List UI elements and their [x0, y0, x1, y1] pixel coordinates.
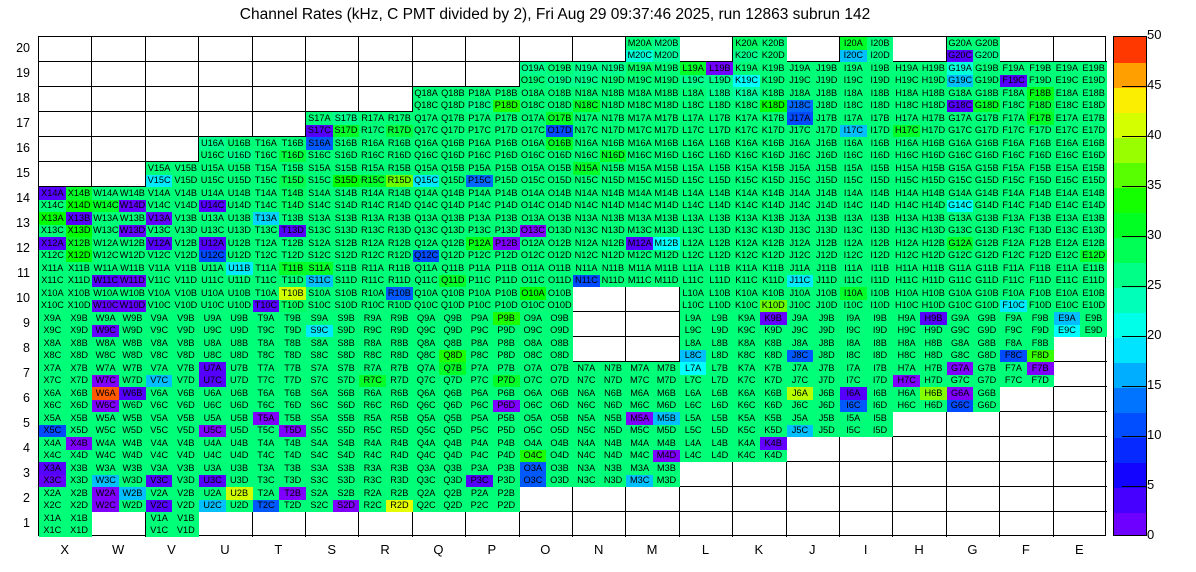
- heatmap-subcell[interactable]: H15B: [920, 162, 947, 175]
- heatmap-subcell[interactable]: F8D: [1027, 350, 1054, 363]
- heatmap-subcell[interactable]: R13D: [386, 225, 413, 238]
- heatmap-subcell[interactable]: R3A: [359, 462, 386, 475]
- heatmap-subcell[interactable]: U16A: [199, 137, 226, 150]
- heatmap-subcell[interactable]: T12A: [253, 237, 280, 250]
- heatmap-subcell[interactable]: R16C: [359, 150, 386, 163]
- heatmap-cell[interactable]: W8AW8BW8CW8D: [92, 337, 145, 362]
- heatmap-subcell[interactable]: V13B: [172, 212, 199, 225]
- heatmap-subcell[interactable]: W13D: [119, 225, 146, 238]
- heatmap-cell[interactable]: O17AO17BO17CO17D: [520, 112, 573, 137]
- heatmap-subcell[interactable]: K19D: [760, 75, 787, 88]
- heatmap-subcell[interactable]: V10B: [172, 287, 199, 300]
- heatmap-subcell[interactable]: F12A: [1000, 237, 1027, 250]
- heatmap-subcell[interactable]: U15C: [199, 175, 226, 188]
- heatmap-subcell[interactable]: G13D: [973, 225, 1000, 238]
- heatmap-subcell[interactable]: H11A: [893, 262, 920, 275]
- heatmap-subcell[interactable]: V7B: [172, 362, 199, 375]
- heatmap-cell[interactable]: X10AX10BX10CX10D: [39, 287, 92, 312]
- heatmap-subcell[interactable]: F17A: [1000, 112, 1027, 125]
- heatmap-subcell[interactable]: P14A: [466, 187, 493, 200]
- heatmap-subcell[interactable]: V11B: [172, 262, 199, 275]
- heatmap-subcell[interactable]: W8D: [119, 350, 146, 363]
- heatmap-subcell[interactable]: V1C: [146, 525, 173, 538]
- heatmap-subcell[interactable]: J10B: [813, 287, 840, 300]
- heatmap-subcell[interactable]: V2D: [172, 500, 199, 513]
- heatmap-subcell[interactable]: S4C: [306, 450, 333, 463]
- heatmap-cell[interactable]: L9AL9BL9CL9D: [680, 312, 733, 337]
- heatmap-subcell[interactable]: J16B: [813, 137, 840, 150]
- heatmap-subcell[interactable]: E16C: [1054, 150, 1081, 163]
- heatmap-subcell[interactable]: P15B: [493, 162, 520, 175]
- heatmap-subcell[interactable]: O16B: [546, 137, 573, 150]
- heatmap-subcell[interactable]: E11A: [1054, 262, 1081, 275]
- heatmap-subcell[interactable]: V8B: [172, 337, 199, 350]
- heatmap-subcell[interactable]: Q13B: [439, 212, 466, 225]
- heatmap-subcell[interactable]: H9D: [920, 325, 947, 338]
- heatmap-subcell[interactable]: S5B: [333, 412, 360, 425]
- heatmap-cell[interactable]: F8AF8BF8CF8D: [1000, 337, 1053, 362]
- heatmap-subcell[interactable]: K15B: [760, 162, 787, 175]
- heatmap-cell[interactable]: E19AE19BE19CE19D: [1054, 62, 1107, 87]
- heatmap-subcell[interactable]: V4D: [172, 450, 199, 463]
- heatmap-subcell[interactable]: U10A: [199, 287, 226, 300]
- heatmap-subcell[interactable]: S6B: [333, 387, 360, 400]
- heatmap-subcell[interactable]: R3D: [386, 475, 413, 488]
- heatmap-subcell[interactable]: Q12A: [413, 237, 440, 250]
- heatmap-subcell[interactable]: T2B: [279, 487, 306, 500]
- heatmap-subcell[interactable]: J9C: [787, 325, 814, 338]
- heatmap-cell[interactable]: J7AJ7BJ7CJ7D: [787, 362, 840, 387]
- heatmap-subcell[interactable]: K14B: [760, 187, 787, 200]
- heatmap-subcell[interactable]: K18B: [760, 87, 787, 100]
- heatmap-subcell[interactable]: J15D: [813, 175, 840, 188]
- heatmap-subcell[interactable]: H16B: [920, 137, 947, 150]
- heatmap-cell[interactable]: W12AW12BW12CW12D: [92, 237, 145, 262]
- heatmap-subcell[interactable]: R3B: [386, 462, 413, 475]
- heatmap-cell[interactable]: O10AO10BO10CO10D: [520, 287, 573, 312]
- heatmap-cell[interactable]: [840, 462, 893, 487]
- heatmap-cell[interactable]: M6AM6BM6CM6D: [626, 387, 679, 412]
- heatmap-subcell[interactable]: K19B: [760, 62, 787, 75]
- heatmap-subcell[interactable]: R9B: [386, 312, 413, 325]
- heatmap-subcell[interactable]: H11B: [920, 262, 947, 275]
- heatmap-cell[interactable]: H19AH19BH19CH19D: [893, 62, 946, 87]
- heatmap-subcell[interactable]: G11B: [973, 262, 1000, 275]
- heatmap-cell[interactable]: Q5AQ5BQ5CQ5D: [413, 412, 466, 437]
- heatmap-cell[interactable]: J10AJ10BJ10CJ10D: [787, 287, 840, 312]
- heatmap-cell[interactable]: L15AL15BL15CL15D: [680, 162, 733, 187]
- heatmap-subcell[interactable]: L9B: [706, 312, 733, 325]
- heatmap-cell[interactable]: T5AT5BT5CT5D: [253, 412, 306, 437]
- heatmap-cell[interactable]: L13AL13BL13CL13D: [680, 212, 733, 237]
- heatmap-subcell[interactable]: Q5B: [439, 412, 466, 425]
- heatmap-subcell[interactable]: T4A: [253, 437, 280, 450]
- heatmap-cell[interactable]: R7AR7BR7CR7D: [359, 362, 412, 387]
- heatmap-cell[interactable]: V8AV8BV8CV8D: [146, 337, 199, 362]
- heatmap-subcell[interactable]: X3A: [39, 462, 66, 475]
- heatmap-cell[interactable]: O19AO19BO19CO19D: [520, 62, 573, 87]
- heatmap-subcell[interactable]: N7C: [573, 375, 600, 388]
- heatmap-subcell[interactable]: X4D: [66, 450, 93, 463]
- heatmap-subcell[interactable]: M7B: [653, 362, 680, 375]
- heatmap-subcell[interactable]: X5B: [66, 412, 93, 425]
- heatmap-cell[interactable]: E13AE13BE13CE13D: [1054, 212, 1107, 237]
- heatmap-cell[interactable]: I10AI10BI10CI10D: [840, 287, 893, 312]
- heatmap-subcell[interactable]: W6D: [119, 400, 146, 413]
- heatmap-subcell[interactable]: I20C: [840, 50, 867, 63]
- heatmap-cell[interactable]: [1054, 362, 1107, 387]
- heatmap-cell[interactable]: E12AE12BE12CE12D: [1054, 237, 1107, 262]
- heatmap-subcell[interactable]: R12A: [359, 237, 386, 250]
- heatmap-subcell[interactable]: M17A: [626, 112, 653, 125]
- heatmap-subcell[interactable]: Q17D: [439, 125, 466, 138]
- heatmap-subcell[interactable]: M4D: [653, 450, 680, 463]
- heatmap-subcell[interactable]: I17A: [840, 112, 867, 125]
- heatmap-cell[interactable]: [947, 437, 1000, 462]
- heatmap-cell[interactable]: G13AG13BG13CG13D: [947, 212, 1000, 237]
- heatmap-cell[interactable]: [626, 287, 679, 312]
- heatmap-cell[interactable]: [466, 512, 519, 537]
- heatmap-subcell[interactable]: H18C: [893, 100, 920, 113]
- heatmap-cell[interactable]: U7AU7BU7CU7D: [199, 362, 252, 387]
- heatmap-subcell[interactable]: S15A: [306, 162, 333, 175]
- heatmap-subcell[interactable]: E13C: [1054, 225, 1081, 238]
- heatmap-subcell[interactable]: F17C: [1000, 125, 1027, 138]
- heatmap-subcell[interactable]: I17D: [867, 125, 894, 138]
- heatmap-subcell[interactable]: K17B: [760, 112, 787, 125]
- heatmap-subcell[interactable]: Q16B: [439, 137, 466, 150]
- heatmap-subcell[interactable]: R15D: [386, 175, 413, 188]
- heatmap-subcell[interactable]: P11C: [466, 275, 493, 288]
- heatmap-subcell[interactable]: X14B: [66, 187, 93, 200]
- heatmap-subcell[interactable]: T11C: [253, 275, 280, 288]
- heatmap-subcell[interactable]: O14B: [546, 187, 573, 200]
- heatmap-cell[interactable]: X13AX13BX13CX13D: [39, 212, 92, 237]
- heatmap-cell[interactable]: [947, 412, 1000, 437]
- heatmap-subcell[interactable]: J17B: [813, 112, 840, 125]
- heatmap-subcell[interactable]: N18A: [573, 87, 600, 100]
- heatmap-cell[interactable]: S12AS12BS12CS12D: [306, 237, 359, 262]
- heatmap-cell[interactable]: [1054, 487, 1107, 512]
- heatmap-subcell[interactable]: F9D: [1027, 325, 1054, 338]
- heatmap-cell[interactable]: [92, 137, 145, 162]
- heatmap-subcell[interactable]: L18A: [680, 87, 707, 100]
- heatmap-subcell[interactable]: O10C: [520, 300, 547, 313]
- heatmap-subcell[interactable]: N5D: [600, 425, 627, 438]
- heatmap-subcell[interactable]: I8B: [867, 337, 894, 350]
- heatmap-subcell[interactable]: N12A: [573, 237, 600, 250]
- heatmap-subcell[interactable]: U2B: [226, 487, 253, 500]
- heatmap-subcell[interactable]: W4C: [92, 450, 119, 463]
- heatmap-subcell[interactable]: T11A: [253, 262, 280, 275]
- heatmap-subcell[interactable]: Q18B: [439, 87, 466, 100]
- heatmap-subcell[interactable]: V13D: [172, 225, 199, 238]
- heatmap-subcell[interactable]: V2A: [146, 487, 173, 500]
- heatmap-cell[interactable]: O7AO7BO7CO7D: [520, 362, 573, 387]
- heatmap-subcell[interactable]: O14C: [520, 200, 547, 213]
- heatmap-subcell[interactable]: R16D: [386, 150, 413, 163]
- heatmap-subcell[interactable]: O15D: [546, 175, 573, 188]
- heatmap-subcell[interactable]: N18D: [600, 100, 627, 113]
- heatmap-subcell[interactable]: G7C: [947, 375, 974, 388]
- heatmap-subcell[interactable]: U3A: [199, 462, 226, 475]
- heatmap-subcell[interactable]: V3D: [172, 475, 199, 488]
- heatmap-subcell[interactable]: P12D: [493, 250, 520, 263]
- heatmap-subcell[interactable]: L19B: [706, 62, 733, 75]
- heatmap-subcell[interactable]: H8C: [893, 350, 920, 363]
- heatmap-subcell[interactable]: N15D: [600, 175, 627, 188]
- heatmap-subcell[interactable]: X11A: [39, 262, 66, 275]
- heatmap-cell[interactable]: [1054, 37, 1107, 62]
- heatmap-subcell[interactable]: I6C: [840, 400, 867, 413]
- heatmap-subcell[interactable]: U5C: [199, 425, 226, 438]
- heatmap-subcell[interactable]: Q7D: [439, 375, 466, 388]
- heatmap-cell[interactable]: U12AU12BU12CU12D: [199, 237, 252, 262]
- heatmap-cell[interactable]: F11AF11BF11CF11D: [1000, 262, 1053, 287]
- heatmap-subcell[interactable]: P4B: [493, 437, 520, 450]
- heatmap-subcell[interactable]: M12D: [653, 250, 680, 263]
- heatmap-subcell[interactable]: G14C: [947, 200, 974, 213]
- heatmap-subcell[interactable]: V5B: [172, 412, 199, 425]
- heatmap-subcell[interactable]: N5A: [573, 412, 600, 425]
- heatmap-subcell[interactable]: T10D: [279, 300, 306, 313]
- heatmap-cell[interactable]: [39, 162, 92, 187]
- heatmap-cell[interactable]: W3AW3BW3CW3D: [92, 462, 145, 487]
- heatmap-cell[interactable]: T4AT4BT4CT4D: [253, 437, 306, 462]
- heatmap-cell[interactable]: V11AV11BV11CV11D: [146, 262, 199, 287]
- heatmap-subcell[interactable]: M3B: [653, 462, 680, 475]
- heatmap-subcell[interactable]: O6A: [520, 387, 547, 400]
- heatmap-cell[interactable]: [573, 487, 626, 512]
- heatmap-subcell[interactable]: U8D: [226, 350, 253, 363]
- heatmap-subcell[interactable]: O19C: [520, 75, 547, 88]
- heatmap-subcell[interactable]: H13C: [893, 225, 920, 238]
- heatmap-subcell[interactable]: Q15B: [439, 162, 466, 175]
- heatmap-cell[interactable]: [199, 112, 252, 137]
- heatmap-subcell[interactable]: S6C: [306, 400, 333, 413]
- heatmap-cell[interactable]: P14AP14BP14CP14D: [466, 187, 519, 212]
- heatmap-subcell[interactable]: R5D: [386, 425, 413, 438]
- heatmap-cell[interactable]: [573, 337, 626, 362]
- heatmap-subcell[interactable]: W3D: [119, 475, 146, 488]
- heatmap-cell[interactable]: H14AH14BH14CH14D: [893, 187, 946, 212]
- heatmap-cell[interactable]: P15AP15BP15CP15D: [466, 162, 519, 187]
- heatmap-subcell[interactable]: N7A: [573, 362, 600, 375]
- heatmap-subcell[interactable]: R8A: [359, 337, 386, 350]
- heatmap-cell[interactable]: I12AI12BI12CI12D: [840, 237, 893, 262]
- heatmap-subcell[interactable]: L14B: [706, 187, 733, 200]
- heatmap-cell[interactable]: H7AH7BH7CH7D: [893, 362, 946, 387]
- heatmap-subcell[interactable]: N5C: [573, 425, 600, 438]
- heatmap-cell[interactable]: [787, 462, 840, 487]
- heatmap-subcell[interactable]: E19C: [1054, 75, 1081, 88]
- heatmap-cell[interactable]: O11AO11BO11CO11D: [520, 262, 573, 287]
- heatmap-cell[interactable]: S5AS5BS5CS5D: [306, 412, 359, 437]
- heatmap-subcell[interactable]: E19A: [1054, 62, 1081, 75]
- heatmap-subcell[interactable]: F15A: [1000, 162, 1027, 175]
- heatmap-subcell[interactable]: O8B: [546, 337, 573, 350]
- heatmap-subcell[interactable]: I12B: [867, 237, 894, 250]
- heatmap-subcell[interactable]: X1A: [39, 512, 66, 525]
- heatmap-subcell[interactable]: I5C: [840, 425, 867, 438]
- heatmap-cell[interactable]: P4AP4BP4CP4D: [466, 437, 519, 462]
- heatmap-subcell[interactable]: P9D: [493, 325, 520, 338]
- heatmap-subcell[interactable]: Q8D: [439, 350, 466, 363]
- heatmap-subcell[interactable]: K11C: [733, 275, 760, 288]
- heatmap-subcell[interactable]: T6B: [279, 387, 306, 400]
- heatmap-cell[interactable]: I9AI9BI9CI9D: [840, 312, 893, 337]
- heatmap-subcell[interactable]: W3B: [119, 462, 146, 475]
- heatmap-subcell[interactable]: F11C: [1000, 275, 1027, 288]
- heatmap-cell[interactable]: W13AW13BW13CW13D: [92, 212, 145, 237]
- heatmap-subcell[interactable]: U13D: [226, 225, 253, 238]
- heatmap-subcell[interactable]: N13B: [600, 212, 627, 225]
- heatmap-subcell[interactable]: T5A: [253, 412, 280, 425]
- heatmap-subcell[interactable]: Q17A: [413, 112, 440, 125]
- heatmap-subcell[interactable]: F16A: [1000, 137, 1027, 150]
- heatmap-subcell[interactable]: H7A: [893, 362, 920, 375]
- heatmap-subcell[interactable]: O5C: [520, 425, 547, 438]
- heatmap-subcell[interactable]: O5D: [546, 425, 573, 438]
- heatmap-cell[interactable]: R10AR10BR10CR10D: [359, 287, 412, 312]
- heatmap-subcell[interactable]: S12C: [306, 250, 333, 263]
- heatmap-subcell[interactable]: F16D: [1027, 150, 1054, 163]
- heatmap-subcell[interactable]: U7D: [226, 375, 253, 388]
- heatmap-subcell[interactable]: U8C: [199, 350, 226, 363]
- heatmap-subcell[interactable]: L7B: [706, 362, 733, 375]
- heatmap-subcell[interactable]: V14D: [172, 200, 199, 213]
- heatmap-subcell[interactable]: G16C: [947, 150, 974, 163]
- heatmap-subcell[interactable]: F10A: [1000, 287, 1027, 300]
- heatmap-subcell[interactable]: S7A: [306, 362, 333, 375]
- heatmap-subcell[interactable]: N14A: [573, 187, 600, 200]
- heatmap-subcell[interactable]: F15C: [1000, 175, 1027, 188]
- heatmap-subcell[interactable]: M3D: [653, 475, 680, 488]
- heatmap-cell[interactable]: H18AH18BH18CH18D: [893, 87, 946, 112]
- heatmap-subcell[interactable]: I8A: [840, 337, 867, 350]
- heatmap-cell[interactable]: U11AU11BU11CU11D: [199, 262, 252, 287]
- heatmap-subcell[interactable]: H7C: [893, 375, 920, 388]
- heatmap-subcell[interactable]: F7C: [1000, 375, 1027, 388]
- heatmap-subcell[interactable]: I11A: [840, 262, 867, 275]
- heatmap-cell[interactable]: G12AG12BG12CG12D: [947, 237, 1000, 262]
- heatmap-cell[interactable]: U16AU16BU16CU16D: [199, 137, 252, 162]
- heatmap-subcell[interactable]: F11B: [1027, 262, 1054, 275]
- heatmap-subcell[interactable]: U11D: [226, 275, 253, 288]
- heatmap-cell[interactable]: K5AK5BK5CK5D: [733, 412, 786, 437]
- heatmap-subcell[interactable]: S4A: [306, 437, 333, 450]
- heatmap-cell[interactable]: W2AW2BW2CW2D: [92, 487, 145, 512]
- heatmap-cell[interactable]: F12AF12BF12CF12D: [1000, 237, 1053, 262]
- heatmap-subcell[interactable]: R12D: [386, 250, 413, 263]
- heatmap-subcell[interactable]: I16A: [840, 137, 867, 150]
- heatmap-subcell[interactable]: O3D: [546, 475, 573, 488]
- heatmap-subcell[interactable]: Q4B: [439, 437, 466, 450]
- heatmap-subcell[interactable]: T13B: [279, 212, 306, 225]
- heatmap-subcell[interactable]: M7C: [626, 375, 653, 388]
- heatmap-subcell[interactable]: T12D: [279, 250, 306, 263]
- heatmap-subcell[interactable]: L8D: [706, 350, 733, 363]
- heatmap-subcell[interactable]: K13B: [760, 212, 787, 225]
- heatmap-subcell[interactable]: E10B: [1080, 287, 1107, 300]
- heatmap-subcell[interactable]: K9D: [760, 325, 787, 338]
- heatmap-cell[interactable]: U13AU13BU13CU13D: [199, 212, 252, 237]
- heatmap-cell[interactable]: Q17AQ17BQ17CQ17D: [413, 112, 466, 137]
- heatmap-subcell[interactable]: I10D: [867, 300, 894, 313]
- heatmap-subcell[interactable]: P6A: [466, 387, 493, 400]
- heatmap-subcell[interactable]: W5B: [119, 412, 146, 425]
- heatmap-cell[interactable]: F10AF10BF10CF10D: [1000, 287, 1053, 312]
- heatmap-subcell[interactable]: J12C: [787, 250, 814, 263]
- heatmap-subcell[interactable]: P5D: [493, 425, 520, 438]
- heatmap-subcell[interactable]: H14D: [920, 200, 947, 213]
- heatmap-subcell[interactable]: P18A: [466, 87, 493, 100]
- heatmap-cell[interactable]: L8AL8BL8CL8D: [680, 337, 733, 362]
- heatmap-cell[interactable]: I19AI19BI19CI19D: [840, 62, 893, 87]
- heatmap-subcell[interactable]: L13D: [706, 225, 733, 238]
- heatmap-cell[interactable]: N19AN19BN19CN19D: [573, 62, 626, 87]
- heatmap-subcell[interactable]: U12C: [199, 250, 226, 263]
- heatmap-subcell[interactable]: X4C: [39, 450, 66, 463]
- heatmap-subcell[interactable]: N3C: [573, 475, 600, 488]
- heatmap-subcell[interactable]: N16A: [573, 137, 600, 150]
- heatmap-subcell[interactable]: V15B: [172, 162, 199, 175]
- heatmap-cell[interactable]: R12AR12BR12CR12D: [359, 237, 412, 262]
- heatmap-subcell[interactable]: I15C: [840, 175, 867, 188]
- heatmap-subcell[interactable]: R4D: [386, 450, 413, 463]
- heatmap-subcell[interactable]: N3A: [573, 462, 600, 475]
- heatmap-subcell[interactable]: J6B: [813, 387, 840, 400]
- heatmap-cell[interactable]: M12AM12BM12CM12D: [626, 237, 679, 262]
- heatmap-subcell[interactable]: R17B: [386, 112, 413, 125]
- heatmap-subcell[interactable]: N5B: [600, 412, 627, 425]
- heatmap-subcell[interactable]: W2D: [119, 500, 146, 513]
- heatmap-subcell[interactable]: G12C: [947, 250, 974, 263]
- heatmap-subcell[interactable]: R12C: [359, 250, 386, 263]
- heatmap-cell[interactable]: T12AT12BT12CT12D: [253, 237, 306, 262]
- heatmap-cell[interactable]: X11AX11BX11CX11D: [39, 262, 92, 287]
- heatmap-subcell[interactable]: E16A: [1054, 137, 1081, 150]
- heatmap-cell[interactable]: S7AS7BS7CS7D: [306, 362, 359, 387]
- heatmap-subcell[interactable]: K5C: [733, 425, 760, 438]
- heatmap-subcell[interactable]: X11B: [66, 262, 93, 275]
- heatmap-subcell[interactable]: R11D: [386, 275, 413, 288]
- heatmap-subcell[interactable]: E15C: [1054, 175, 1081, 188]
- heatmap-subcell[interactable]: U8B: [226, 337, 253, 350]
- heatmap-subcell[interactable]: X2D: [66, 500, 93, 513]
- heatmap-subcell[interactable]: G8B: [973, 337, 1000, 350]
- heatmap-cell[interactable]: G6AG6BG6CG6D: [947, 387, 1000, 412]
- heatmap-subcell[interactable]: R15A: [359, 162, 386, 175]
- heatmap-subcell[interactable]: T9A: [253, 312, 280, 325]
- heatmap-subcell[interactable]: J11A: [787, 262, 814, 275]
- heatmap-cell[interactable]: E14AE14BE14CE14D: [1054, 187, 1107, 212]
- heatmap-subcell[interactable]: V5C: [146, 425, 173, 438]
- heatmap-subcell[interactable]: W2C: [92, 500, 119, 513]
- heatmap-subcell[interactable]: G12D: [973, 250, 1000, 263]
- heatmap-subcell[interactable]: M7D: [653, 375, 680, 388]
- heatmap-cell[interactable]: L7AL7BL7CL7D: [680, 362, 733, 387]
- heatmap-subcell[interactable]: L17C: [680, 125, 707, 138]
- heatmap-subcell[interactable]: H15A: [893, 162, 920, 175]
- heatmap-cell[interactable]: [146, 62, 199, 87]
- heatmap-subcell[interactable]: T16A: [253, 137, 280, 150]
- heatmap-subcell[interactable]: M20A: [626, 37, 653, 50]
- heatmap-subcell[interactable]: L11A: [680, 262, 707, 275]
- heatmap-subcell[interactable]: I12A: [840, 237, 867, 250]
- heatmap-cell[interactable]: V7AV7BV7CV7D: [146, 362, 199, 387]
- heatmap-subcell[interactable]: N12B: [600, 237, 627, 250]
